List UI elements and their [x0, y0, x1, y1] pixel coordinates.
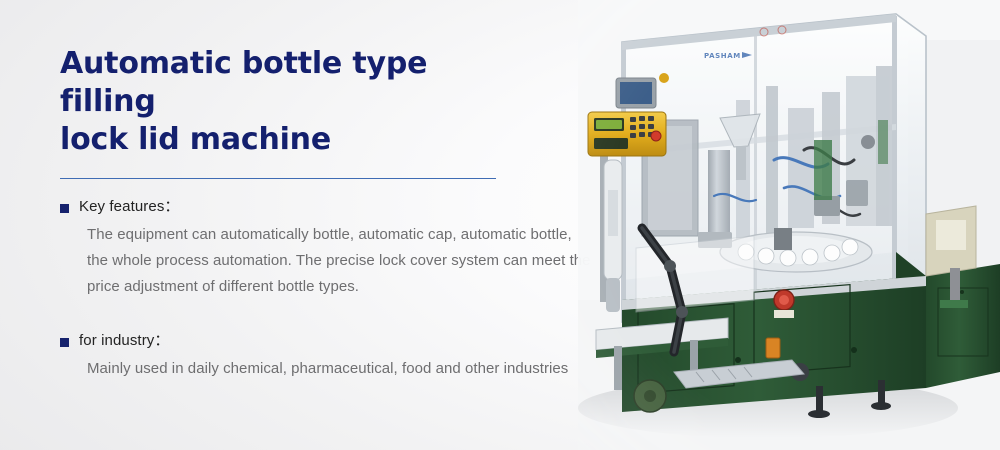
page-title-line-1: Automatic bottle type filling — [60, 46, 427, 119]
product-banner: Automatic bottle type filling lock lid m… — [0, 0, 1000, 450]
square-bullet-icon — [60, 204, 69, 213]
feature-body-text: The equipment can automatically bottle, … — [87, 222, 595, 300]
feature-block-key-features: Key features： The equipment can automati… — [60, 197, 605, 300]
feature-heading-row: for industry： — [60, 331, 605, 351]
text-content: Automatic bottle type filling lock lid m… — [60, 45, 605, 382]
feature-heading-label: for industry： — [79, 331, 170, 351]
page-title: Automatic bottle type filling lock lid m… — [60, 45, 530, 159]
square-bullet-icon — [60, 338, 69, 347]
svg-text:PASHAM: PASHAM — [704, 52, 741, 60]
title-divider — [60, 178, 496, 179]
feature-body-text: Mainly used in daily chemical, pharmaceu… — [87, 356, 595, 382]
product-photo: PASHAM — [578, 0, 1000, 450]
feature-block-for-industry: for industry： Mainly used in daily chemi… — [60, 331, 605, 382]
feature-heading-label: Key features： — [79, 197, 180, 217]
page-title-line-2: lock lid machine — [60, 122, 331, 157]
feature-heading-row: Key features： — [60, 197, 605, 217]
